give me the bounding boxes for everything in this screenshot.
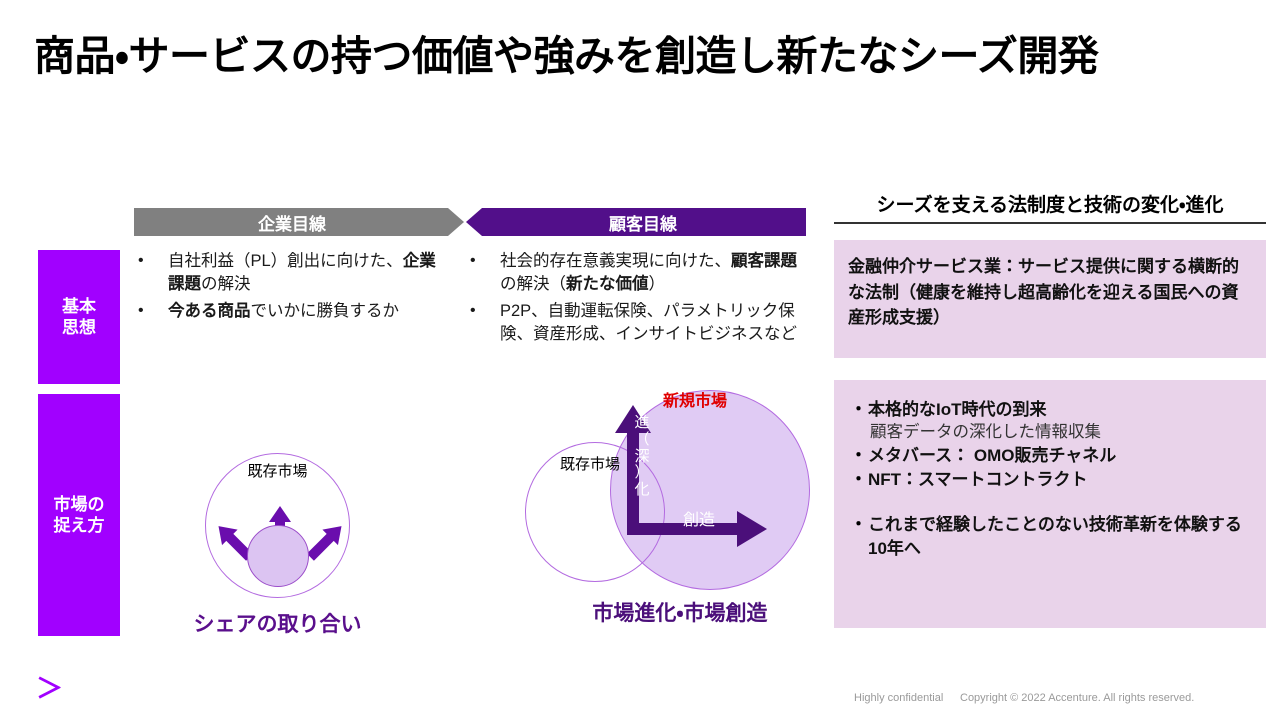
row-label-principle-line2: 思想 <box>62 317 96 338</box>
row-label-market-line2: 捉え方 <box>54 515 105 536</box>
row-label-principle-line1: 基本 <box>62 296 96 317</box>
evolution-vertical-char: ） <box>631 465 653 482</box>
bullet-marker-icon: • <box>134 300 168 323</box>
bullet-item: •自社利益（PL）創出に向けた、企業課題の解決 <box>134 250 452 297</box>
tech-list-item: ・これまで経験したことのない技術革新を体験する10年へ <box>850 513 1250 560</box>
bullet-item: •今ある商品でいかに勝負するか <box>134 300 452 323</box>
row-label-market-line1: 市場の <box>54 494 105 515</box>
bullet-marker-icon: • <box>134 250 168 273</box>
tech-bullet-marker-icon: ・ <box>850 444 868 467</box>
evolution-vertical-char: （ <box>631 432 653 449</box>
share-diagram-caption: シェアの取り合い <box>150 608 405 638</box>
tech-item-body: NFT：スマートコントラクト <box>868 468 1250 491</box>
evolution-diagram-caption: 市場進化・市場創造 <box>535 597 825 627</box>
evolution-vertical-char: 深 <box>631 449 653 466</box>
tech-item-body: メタバース： OMO販売チャネル <box>868 444 1250 467</box>
evolution-vertical-label: 進（深）化 <box>631 415 653 499</box>
footer-copyright: Copyright © 2022 Accenture. All rights r… <box>960 692 1194 704</box>
tech-item-body: これまで経験したことのない技術革新を体験する10年へ <box>868 513 1250 560</box>
bullet-list-customer: •社会的存在意義実現に向けた、顧客課題の解決（新たな価値）•P2P、自動運転保険… <box>466 250 804 350</box>
tech-bullet-marker-icon: ・ <box>850 398 868 421</box>
evolution-horizontal-label: 創造 <box>683 506 715 530</box>
accenture-logo-icon: ＞ <box>36 676 63 703</box>
tech-list-item: ・NFT：スマートコントラクト <box>850 468 1250 491</box>
right-panel-divider <box>834 222 1266 224</box>
footer-confidential: Highly confidential <box>854 692 943 704</box>
header-company-perspective: 企業目線 <box>134 208 464 236</box>
bullet-text: 社会的存在意義実現に向けた、顧客課題の解決（新たな価値） <box>500 250 804 297</box>
bullet-item: •P2P、自動運転保険、パラメトリック保険、資産形成、インサイトビジネスなど <box>466 300 804 347</box>
header-customer-perspective: 顧客目線 <box>466 208 806 236</box>
bullet-text: 今ある商品でいかに勝負するか <box>168 300 452 323</box>
bullet-text: 自社利益（PL）創出に向けた、企業課題の解決 <box>168 250 452 297</box>
tech-item-body: 本格的なIoT時代の到来顧客データの深化した情報収集 <box>868 398 1250 444</box>
evolution-vertical-char: 進 <box>631 415 653 432</box>
tech-bullet-marker-icon: ・ <box>850 513 868 536</box>
page-title: 商品・サービスの持つ価値や強みを創造し新たなシーズ開発 <box>34 34 1098 79</box>
legal-system-text: 金融仲介サービス業：サービス提供に関する横断的な法制（健康を維持し超高齢化を迎え… <box>848 254 1250 331</box>
bullet-list-company: •自社利益（PL）創出に向けた、企業課題の解決•今ある商品でいかに勝負するか <box>134 250 452 326</box>
info-box-technology-trends: ・本格的なIoT時代の到来顧客データの深化した情報収集・メタバース： OMO販売… <box>834 380 1266 628</box>
tech-list-item: ・本格的なIoT時代の到来顧客データの深化した情報収集 <box>850 398 1250 444</box>
info-box-legal-system: 金融仲介サービス業：サービス提供に関する横断的な法制（健康を維持し超高齢化を迎え… <box>834 240 1266 358</box>
own-share-circle <box>247 525 309 587</box>
row-label-basic-principle: 基本 思想 <box>38 250 120 384</box>
bullet-marker-icon: • <box>466 250 500 273</box>
tech-list-item: ・メタバース： OMO販売チャネル <box>850 444 1250 467</box>
tech-spacer <box>850 491 1250 513</box>
existing-market-label: 既存市場 <box>205 460 350 481</box>
bullet-text: P2P、自動運転保険、パラメトリック保険、資産形成、インサイトビジネスなど <box>500 300 804 347</box>
bullet-marker-icon: • <box>466 300 500 323</box>
bullet-item: •社会的存在意義実現に向けた、顧客課題の解決（新たな価値） <box>466 250 804 297</box>
evolution-vertical-char: 化 <box>631 482 653 499</box>
tech-item-main: NFT：スマートコントラクト <box>868 470 1088 489</box>
diagram-market-evolution: 既存市場 新規市場 進（深）化 創造 市場進化・市場創造 <box>535 385 835 640</box>
tech-item-main: 本格的なIoT時代の到来 <box>868 400 1047 419</box>
right-panel-title: シーズを支える法制度と技術の変化・進化 <box>840 190 1260 217</box>
tech-item-sub: 顧客データの深化した情報収集 <box>868 421 1250 444</box>
diagram-share-competition: 既存市場 シェアの取り合い <box>150 440 440 645</box>
tech-bullet-marker-icon: ・ <box>850 468 868 491</box>
evolution-arrow <box>595 403 785 553</box>
tech-item-main: メタバース： OMO販売チャネル <box>868 446 1116 465</box>
tech-item-main: これまで経験したことのない技術革新を体験する10年へ <box>868 515 1242 557</box>
row-label-market-view: 市場の 捉え方 <box>38 394 120 636</box>
